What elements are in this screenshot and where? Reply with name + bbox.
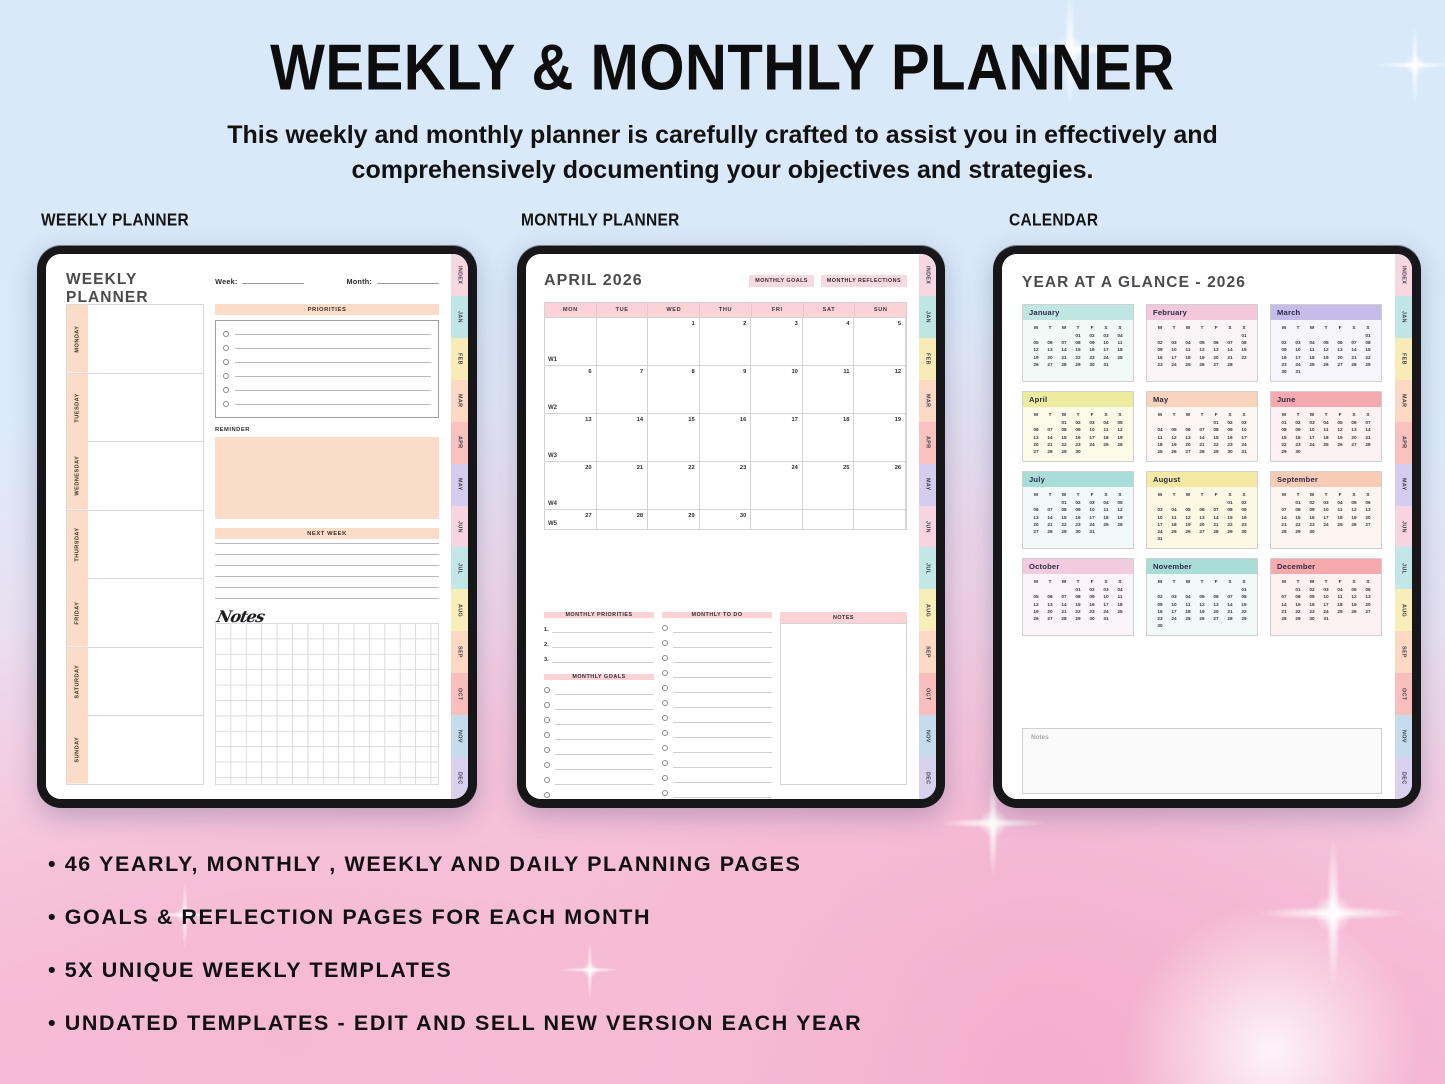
mini-day-cell[interactable]: 16 — [1305, 513, 1319, 520]
day-cell[interactable]: 9 — [700, 366, 752, 413]
mini-day-cell[interactable]: 16 — [1153, 354, 1167, 361]
write-line[interactable] — [673, 677, 772, 678]
mini-day-cell[interactable]: 15 — [1071, 601, 1085, 608]
mini-day-cell[interactable]: 20 — [1195, 521, 1209, 528]
mini-day-cell[interactable]: 04 — [1113, 586, 1127, 593]
mini-day-cell[interactable]: 29 — [1057, 448, 1071, 455]
mini-day-cell[interactable]: 26 — [1347, 521, 1361, 528]
priority-row[interactable] — [223, 383, 431, 397]
mini-day-cell[interactable]: 01 — [1237, 586, 1251, 593]
mini-day-cell[interactable] — [1277, 586, 1291, 593]
mini-day-cell[interactable]: 04 — [1113, 332, 1127, 339]
mini-day-cell[interactable]: 25 — [1153, 448, 1167, 455]
mini-day-cell[interactable]: 06 — [1361, 499, 1375, 506]
mini-day-cell[interactable]: 12 — [1113, 426, 1127, 433]
write-line[interactable] — [673, 782, 772, 783]
write-line[interactable] — [235, 376, 431, 377]
mini-day-cell[interactable]: 15 — [1361, 346, 1375, 353]
mini-day-cell[interactable]: 19 — [1319, 354, 1333, 361]
write-line[interactable] — [235, 334, 431, 335]
mini-day-cell[interactable] — [1347, 448, 1361, 455]
month-tab-nov[interactable]: NOV — [919, 715, 936, 757]
mini-day-cell[interactable]: 03 — [1305, 419, 1319, 426]
mini-day-cell[interactable]: 23 — [1085, 608, 1099, 615]
calendar-notes-box[interactable]: Notes — [1022, 728, 1382, 794]
mini-day-cell[interactable]: 01 — [1057, 499, 1071, 506]
month-field[interactable]: Month: — [346, 277, 439, 286]
mini-day-cell[interactable]: 25 — [1099, 441, 1113, 448]
mini-day-cell[interactable]: 10 — [1237, 426, 1251, 433]
mini-day-cell[interactable]: 31 — [1237, 448, 1251, 455]
month-tab-oct[interactable]: OCT — [451, 673, 468, 715]
mini-day-cell[interactable]: 08 — [1209, 426, 1223, 433]
mini-day-cell[interactable]: 17 — [1319, 513, 1333, 520]
mini-day-cell[interactable]: 29 — [1237, 615, 1251, 622]
day-cell[interactable]: 25 — [803, 462, 855, 509]
mini-day-cell[interactable]: 20 — [1181, 441, 1195, 448]
mini-day-cell[interactable]: 09 — [1277, 346, 1291, 353]
mini-day-cell[interactable]: 24 — [1305, 441, 1319, 448]
mini-day-cell[interactable]: 06 — [1361, 586, 1375, 593]
mini-day-cell[interactable]: 27 — [1029, 448, 1043, 455]
mini-day-cell[interactable] — [1085, 448, 1099, 455]
month-input-line[interactable] — [377, 283, 439, 284]
mini-day-cell[interactable]: 14 — [1347, 346, 1361, 353]
mini-day-cell[interactable] — [1333, 528, 1347, 535]
mini-day-cell[interactable]: 18 — [1113, 601, 1127, 608]
day-cell[interactable]: 10 — [751, 366, 803, 413]
mini-day-cell[interactable] — [1181, 419, 1195, 426]
mini-day-cell[interactable]: 23 — [1071, 521, 1085, 528]
mini-day-cell[interactable]: 28 — [1057, 615, 1071, 622]
mini-day-cell[interactable]: 17 — [1167, 354, 1181, 361]
mini-day-cell[interactable]: 30 — [1085, 361, 1099, 368]
mini-day-cell[interactable] — [1333, 615, 1347, 622]
mini-day-cell[interactable]: 14 — [1057, 601, 1071, 608]
month-tab-feb[interactable]: FEB — [1395, 338, 1412, 380]
mini-day-cell[interactable]: 29 — [1071, 615, 1085, 622]
notes-area[interactable]: Notes — [215, 611, 439, 785]
day-cell[interactable]: 15 — [648, 414, 700, 461]
mini-day-cell[interactable]: 05 — [1029, 339, 1043, 346]
mini-day-cell[interactable]: 12 — [1029, 601, 1043, 608]
mini-day-cell[interactable]: 17 — [1167, 608, 1181, 615]
weekday-row-sunday[interactable]: SUNDAY — [67, 716, 203, 784]
mini-day-cell[interactable]: 23 — [1085, 354, 1099, 361]
mini-day-cell[interactable]: 02 — [1085, 332, 1099, 339]
mini-day-cell[interactable] — [1209, 535, 1223, 542]
mini-day-cell[interactable] — [1029, 419, 1043, 426]
checkbox-circle-icon[interactable] — [223, 387, 229, 393]
mini-day-cell[interactable]: 25 — [1167, 528, 1181, 535]
checkbox-circle-icon[interactable] — [662, 715, 668, 721]
mini-day-cell[interactable]: 14 — [1361, 426, 1375, 433]
mini-day-cell[interactable]: 08 — [1223, 506, 1237, 513]
weekday-entry-box[interactable] — [88, 305, 203, 373]
month-tab-feb[interactable]: FEB — [451, 338, 468, 380]
write-line[interactable] — [555, 739, 654, 740]
priorities-box[interactable] — [215, 320, 439, 418]
monthly-goal-row[interactable] — [544, 725, 654, 740]
mini-day-cell[interactable]: 24 — [1085, 521, 1099, 528]
mini-day-cell[interactable]: 15 — [1209, 434, 1223, 441]
mini-day-cell[interactable]: 20 — [1043, 608, 1057, 615]
mini-day-cell[interactable] — [1153, 419, 1167, 426]
day-cell[interactable]: 18 — [803, 414, 855, 461]
day-cell[interactable]: 21 — [597, 462, 649, 509]
mini-day-cell[interactable]: 25 — [1113, 608, 1127, 615]
mini-day-cell[interactable] — [1209, 586, 1223, 593]
mini-day-cell[interactable]: 26 — [1113, 441, 1127, 448]
mini-day-cell[interactable]: 03 — [1153, 506, 1167, 513]
mini-day-cell[interactable]: 07 — [1195, 426, 1209, 433]
mini-day-cell[interactable]: 28 — [1057, 361, 1071, 368]
mini-day-cell[interactable]: 24 — [1167, 361, 1181, 368]
mini-day-cell[interactable]: 22 — [1223, 521, 1237, 528]
mini-day-cell[interactable]: 27 — [1181, 448, 1195, 455]
mini-day-cell[interactable] — [1319, 528, 1333, 535]
checkbox-circle-icon[interactable] — [662, 730, 668, 736]
month-tab-oct[interactable]: OCT — [1395, 673, 1412, 715]
mini-day-cell[interactable]: 31 — [1153, 535, 1167, 542]
mini-day-cell[interactable]: 13 — [1029, 513, 1043, 520]
month-tab-jul[interactable]: JUL — [1395, 547, 1412, 589]
mini-day-cell[interactable]: 06 — [1195, 506, 1209, 513]
mini-day-cell[interactable]: 04 — [1181, 339, 1195, 346]
mini-day-cell[interactable]: 15 — [1071, 346, 1085, 353]
write-line[interactable] — [673, 662, 772, 663]
mini-day-cell[interactable]: 22 — [1071, 354, 1085, 361]
mini-day-cell[interactable] — [1043, 499, 1057, 506]
mini-day-cell[interactable]: 13 — [1181, 434, 1195, 441]
mini-day-cell[interactable]: 20 — [1361, 601, 1375, 608]
day-cell[interactable]: 30 — [700, 510, 752, 529]
mini-day-cell[interactable]: 19 — [1333, 434, 1347, 441]
weekday-entry-box[interactable] — [88, 442, 203, 510]
mini-day-cell[interactable]: 20 — [1029, 521, 1043, 528]
mini-day-cell[interactable]: 12 — [1113, 506, 1127, 513]
mini-day-cell[interactable]: 01 — [1071, 586, 1085, 593]
mini-day-cell[interactable]: 04 — [1319, 419, 1333, 426]
checkbox-circle-icon[interactable] — [223, 331, 229, 337]
mini-day-cell[interactable]: 12 — [1195, 601, 1209, 608]
monthly-goals-chip[interactable]: MONTHLY GOALS — [749, 275, 814, 287]
mini-day-cell[interactable]: 11 — [1113, 339, 1127, 346]
monthly-goal-row[interactable] — [544, 770, 654, 785]
day-cell[interactable]: 11 — [803, 366, 855, 413]
checkbox-circle-icon[interactable] — [223, 373, 229, 379]
mini-day-cell[interactable] — [1223, 535, 1237, 542]
monthly-goals-list[interactable] — [544, 680, 654, 799]
mini-day-cell[interactable]: 13 — [1361, 506, 1375, 513]
month-tab-jan[interactable]: JAN — [919, 296, 936, 338]
mini-day-cell[interactable]: 16 — [1277, 354, 1291, 361]
mini-day-cell[interactable]: 13 — [1195, 513, 1209, 520]
mini-day-cell[interactable] — [1319, 448, 1333, 455]
mini-day-cell[interactable]: 30 — [1237, 528, 1251, 535]
mini-day-cell[interactable]: 15 — [1237, 346, 1251, 353]
month-tab-index[interactable]: INDEX — [1395, 254, 1412, 296]
mini-day-cell[interactable] — [1057, 332, 1071, 339]
month-tab-jun[interactable]: JUN — [451, 506, 468, 548]
mini-day-cell[interactable]: 11 — [1167, 513, 1181, 520]
month-tab-aug[interactable]: AUG — [919, 589, 936, 631]
mini-day-cell[interactable]: 26 — [1333, 441, 1347, 448]
mini-day-cell[interactable]: 25 — [1181, 361, 1195, 368]
mini-day-cell[interactable]: 02 — [1305, 499, 1319, 506]
write-line[interactable] — [673, 722, 772, 723]
month-tab-mar[interactable]: MAR — [919, 380, 936, 422]
month-tab-mar[interactable]: MAR — [1395, 380, 1412, 422]
mini-day-cell[interactable] — [1029, 499, 1043, 506]
mini-day-cell[interactable]: 21 — [1209, 521, 1223, 528]
mini-day-cell[interactable]: 13 — [1029, 434, 1043, 441]
mini-day-cell[interactable]: 07 — [1057, 339, 1071, 346]
mini-day-cell[interactable] — [1333, 332, 1347, 339]
month-card-december[interactable]: DecemberMTWTFSS0102030405060708091011121… — [1270, 558, 1382, 636]
mini-day-cell[interactable]: 22 — [1237, 354, 1251, 361]
mini-day-cell[interactable]: 04 — [1305, 339, 1319, 346]
mini-day-cell[interactable]: 14 — [1209, 513, 1223, 520]
checkbox-circle-icon[interactable] — [662, 625, 668, 631]
mini-day-cell[interactable]: 07 — [1223, 593, 1237, 600]
mini-day-cell[interactable]: 18 — [1333, 513, 1347, 520]
mini-day-cell[interactable]: 01 — [1361, 332, 1375, 339]
day-cell[interactable]: 17 — [751, 414, 803, 461]
mini-day-cell[interactable]: 06 — [1043, 339, 1057, 346]
month-tab-dec[interactable]: DEC — [451, 757, 468, 799]
mini-day-cell[interactable]: 24 — [1099, 354, 1113, 361]
mini-day-cell[interactable]: 05 — [1195, 339, 1209, 346]
checkbox-circle-icon[interactable] — [544, 777, 550, 783]
monthly-todo-row[interactable] — [662, 753, 772, 768]
mini-day-cell[interactable]: 27 — [1209, 615, 1223, 622]
mini-day-cell[interactable]: 28 — [1277, 615, 1291, 622]
mini-day-cell[interactable]: 06 — [1029, 426, 1043, 433]
mini-day-cell[interactable]: 15 — [1057, 513, 1071, 520]
month-tab-index[interactable]: INDEX — [919, 254, 936, 296]
mini-day-cell[interactable]: 18 — [1153, 441, 1167, 448]
month-tab-dec[interactable]: DEC — [919, 757, 936, 799]
mini-day-cell[interactable]: 21 — [1057, 608, 1071, 615]
mini-day-cell[interactable]: 10 — [1319, 593, 1333, 600]
mini-day-cell[interactable]: 13 — [1347, 426, 1361, 433]
monthly-todo-row[interactable] — [662, 798, 772, 799]
mini-day-cell[interactable]: 03 — [1319, 499, 1333, 506]
mini-day-cell[interactable]: 04 — [1333, 586, 1347, 593]
mini-day-cell[interactable]: 15 — [1291, 601, 1305, 608]
mini-day-cell[interactable]: 16 — [1291, 434, 1305, 441]
mini-day-cell[interactable]: 30 — [1277, 368, 1291, 375]
mini-day-cell[interactable]: 21 — [1057, 354, 1071, 361]
mini-day-cell[interactable] — [1029, 586, 1043, 593]
mini-day-cell[interactable]: 19 — [1347, 513, 1361, 520]
month-tab-sep[interactable]: SEP — [1395, 631, 1412, 673]
mini-day-cell[interactable]: 18 — [1305, 354, 1319, 361]
mini-day-cell[interactable]: 21 — [1195, 441, 1209, 448]
mini-day-cell[interactable]: 07 — [1361, 419, 1375, 426]
mini-day-cell[interactable]: 16 — [1085, 346, 1099, 353]
mini-day-cell[interactable]: 23 — [1237, 521, 1251, 528]
mini-day-cell[interactable]: 10 — [1085, 506, 1099, 513]
mini-day-cell[interactable]: 11 — [1153, 434, 1167, 441]
priority-row[interactable] — [223, 327, 431, 341]
checkbox-circle-icon[interactable] — [662, 685, 668, 691]
month-tab-rail[interactable]: INDEXJANFEBMARAPRMAYJUNJULAUGSEPOCTNOVDE… — [451, 254, 468, 799]
mini-day-cell[interactable] — [1153, 586, 1167, 593]
mini-day-cell[interactable]: 20 — [1029, 441, 1043, 448]
month-tab-mar[interactable]: MAR — [451, 380, 468, 422]
mini-day-cell[interactable]: 29 — [1361, 361, 1375, 368]
mini-day-cell[interactable] — [1195, 535, 1209, 542]
mini-day-cell[interactable]: 24 — [1085, 441, 1099, 448]
mini-day-cell[interactable]: 23 — [1223, 441, 1237, 448]
mini-day-cell[interactable]: 16 — [1153, 608, 1167, 615]
mini-day-cell[interactable]: 06 — [1181, 426, 1195, 433]
day-cell[interactable]: 2 — [700, 318, 752, 365]
mini-day-cell[interactable]: 08 — [1071, 593, 1085, 600]
mini-day-cell[interactable] — [1319, 332, 1333, 339]
weekday-row-saturday[interactable]: SATURDAY — [67, 648, 203, 717]
mini-day-cell[interactable]: 05 — [1167, 426, 1181, 433]
write-line[interactable] — [235, 404, 431, 405]
mini-day-cell[interactable] — [1167, 622, 1181, 629]
mini-day-cell[interactable]: 12 — [1333, 426, 1347, 433]
mini-day-cell[interactable]: 03 — [1167, 339, 1181, 346]
mini-day-cell[interactable]: 22 — [1237, 608, 1251, 615]
month-tab-jul[interactable]: JUL — [919, 547, 936, 589]
monthly-todo-row[interactable] — [662, 723, 772, 738]
mini-day-cell[interactable]: 16 — [1223, 434, 1237, 441]
weekday-entry-box[interactable] — [88, 648, 203, 716]
mini-day-cell[interactable]: 17 — [1237, 434, 1251, 441]
mini-day-cell[interactable]: 18 — [1167, 521, 1181, 528]
mini-day-cell[interactable] — [1277, 499, 1291, 506]
mini-day-cell[interactable] — [1237, 361, 1251, 368]
mini-day-cell[interactable]: 27 — [1347, 441, 1361, 448]
mini-day-cell[interactable]: 20 — [1361, 513, 1375, 520]
mini-day-cell[interactable]: 17 — [1099, 346, 1113, 353]
mini-day-cell[interactable] — [1305, 368, 1319, 375]
day-cell[interactable]: 1 — [648, 318, 700, 365]
checkbox-circle-icon[interactable] — [544, 732, 550, 738]
mini-day-cell[interactable]: 08 — [1277, 426, 1291, 433]
mini-day-cell[interactable] — [1181, 535, 1195, 542]
weekday-entry-box[interactable] — [88, 374, 203, 442]
mini-day-cell[interactable]: 11 — [1333, 506, 1347, 513]
mini-day-cell[interactable]: 28 — [1223, 361, 1237, 368]
mini-day-cell[interactable]: 01 — [1277, 419, 1291, 426]
mini-day-cell[interactable]: 13 — [1043, 346, 1057, 353]
monthly-goal-row[interactable] — [544, 755, 654, 770]
mini-day-cell[interactable]: 05 — [1113, 419, 1127, 426]
mini-day-cell[interactable]: 10 — [1291, 346, 1305, 353]
mini-day-cell[interactable]: 20 — [1347, 434, 1361, 441]
write-line[interactable] — [673, 767, 772, 768]
month-tab-may[interactable]: MAY — [919, 464, 936, 506]
mini-day-cell[interactable]: 30 — [1153, 622, 1167, 629]
mini-day-cell[interactable]: 10 — [1099, 593, 1113, 600]
month-card-may[interactable]: MayMTWTFSS010203040506070809101112131415… — [1146, 391, 1258, 462]
mini-day-cell[interactable]: 12 — [1195, 346, 1209, 353]
mini-day-cell[interactable] — [1209, 622, 1223, 629]
mini-day-cell[interactable]: 30 — [1291, 448, 1305, 455]
mini-day-cell[interactable]: 28 — [1223, 615, 1237, 622]
week-input-line[interactable] — [242, 283, 304, 284]
mini-day-cell[interactable]: 22 — [1361, 354, 1375, 361]
mini-day-cell[interactable]: 08 — [1237, 593, 1251, 600]
write-line[interactable] — [555, 724, 654, 725]
mini-day-cell[interactable]: 25 — [1319, 441, 1333, 448]
mini-day-cell[interactable]: 10 — [1167, 346, 1181, 353]
mini-day-cell[interactable]: 03 — [1099, 332, 1113, 339]
mini-day-cell[interactable]: 16 — [1085, 601, 1099, 608]
month-tab-index[interactable]: INDEX — [451, 254, 468, 296]
mini-day-cell[interactable]: 10 — [1085, 426, 1099, 433]
next-week-line[interactable] — [215, 587, 439, 588]
month-tab-may[interactable]: MAY — [451, 464, 468, 506]
monthly-notes-panel[interactable] — [780, 623, 907, 785]
mini-day-cell[interactable] — [1223, 332, 1237, 339]
mini-day-cell[interactable]: 19 — [1181, 521, 1195, 528]
monthly-goal-row[interactable] — [544, 785, 654, 799]
next-week-line[interactable] — [215, 565, 439, 566]
mini-day-cell[interactable]: 23 — [1153, 361, 1167, 368]
mini-day-cell[interactable]: 27 — [1209, 361, 1223, 368]
mini-day-cell[interactable]: 03 — [1319, 586, 1333, 593]
mini-day-cell[interactable]: 20 — [1333, 354, 1347, 361]
mini-day-cell[interactable]: 01 — [1071, 332, 1085, 339]
mini-day-cell[interactable]: 17 — [1291, 354, 1305, 361]
mini-day-cell[interactable] — [1305, 448, 1319, 455]
checkbox-circle-icon[interactable] — [662, 745, 668, 751]
mini-day-cell[interactable]: 09 — [1237, 506, 1251, 513]
mini-day-cell[interactable]: 13 — [1209, 601, 1223, 608]
priority-row[interactable] — [223, 341, 431, 355]
mini-day-cell[interactable]: 02 — [1223, 419, 1237, 426]
mini-day-cell[interactable]: 06 — [1043, 593, 1057, 600]
month-tab-nov[interactable]: NOV — [1395, 715, 1412, 757]
checkbox-circle-icon[interactable] — [223, 359, 229, 365]
month-tab-apr[interactable]: APR — [919, 422, 936, 464]
mini-day-cell[interactable]: 08 — [1361, 339, 1375, 346]
monthly-todo-row[interactable] — [662, 708, 772, 723]
mini-day-cell[interactable] — [1291, 332, 1305, 339]
mini-day-cell[interactable] — [1195, 622, 1209, 629]
mini-day-cell[interactable]: 12 — [1029, 346, 1043, 353]
next-week-line[interactable] — [215, 554, 439, 555]
mini-day-cell[interactable]: 05 — [1113, 499, 1127, 506]
day-cell[interactable]: 23 — [700, 462, 752, 509]
monthly-goal-row[interactable] — [544, 710, 654, 725]
mini-day-cell[interactable]: 21 — [1043, 441, 1057, 448]
mini-day-cell[interactable] — [1237, 535, 1251, 542]
weekday-entry-box[interactable] — [88, 579, 203, 647]
mini-day-cell[interactable]: 02 — [1085, 586, 1099, 593]
mini-day-cell[interactable]: 18 — [1181, 608, 1195, 615]
mini-day-cell[interactable]: 09 — [1223, 426, 1237, 433]
mini-day-cell[interactable]: 07 — [1277, 506, 1291, 513]
mini-day-cell[interactable]: 04 — [1167, 506, 1181, 513]
mini-day-cell[interactable]: 05 — [1195, 593, 1209, 600]
mini-day-cell[interactable]: 26 — [1195, 361, 1209, 368]
checkbox-circle-icon[interactable] — [544, 702, 550, 708]
day-cell[interactable] — [597, 318, 649, 365]
day-cell[interactable] — [854, 510, 906, 529]
mini-day-cell[interactable]: 12 — [1347, 506, 1361, 513]
monthly-todo-row[interactable] — [662, 648, 772, 663]
month-tab-jun[interactable]: JUN — [1395, 506, 1412, 548]
